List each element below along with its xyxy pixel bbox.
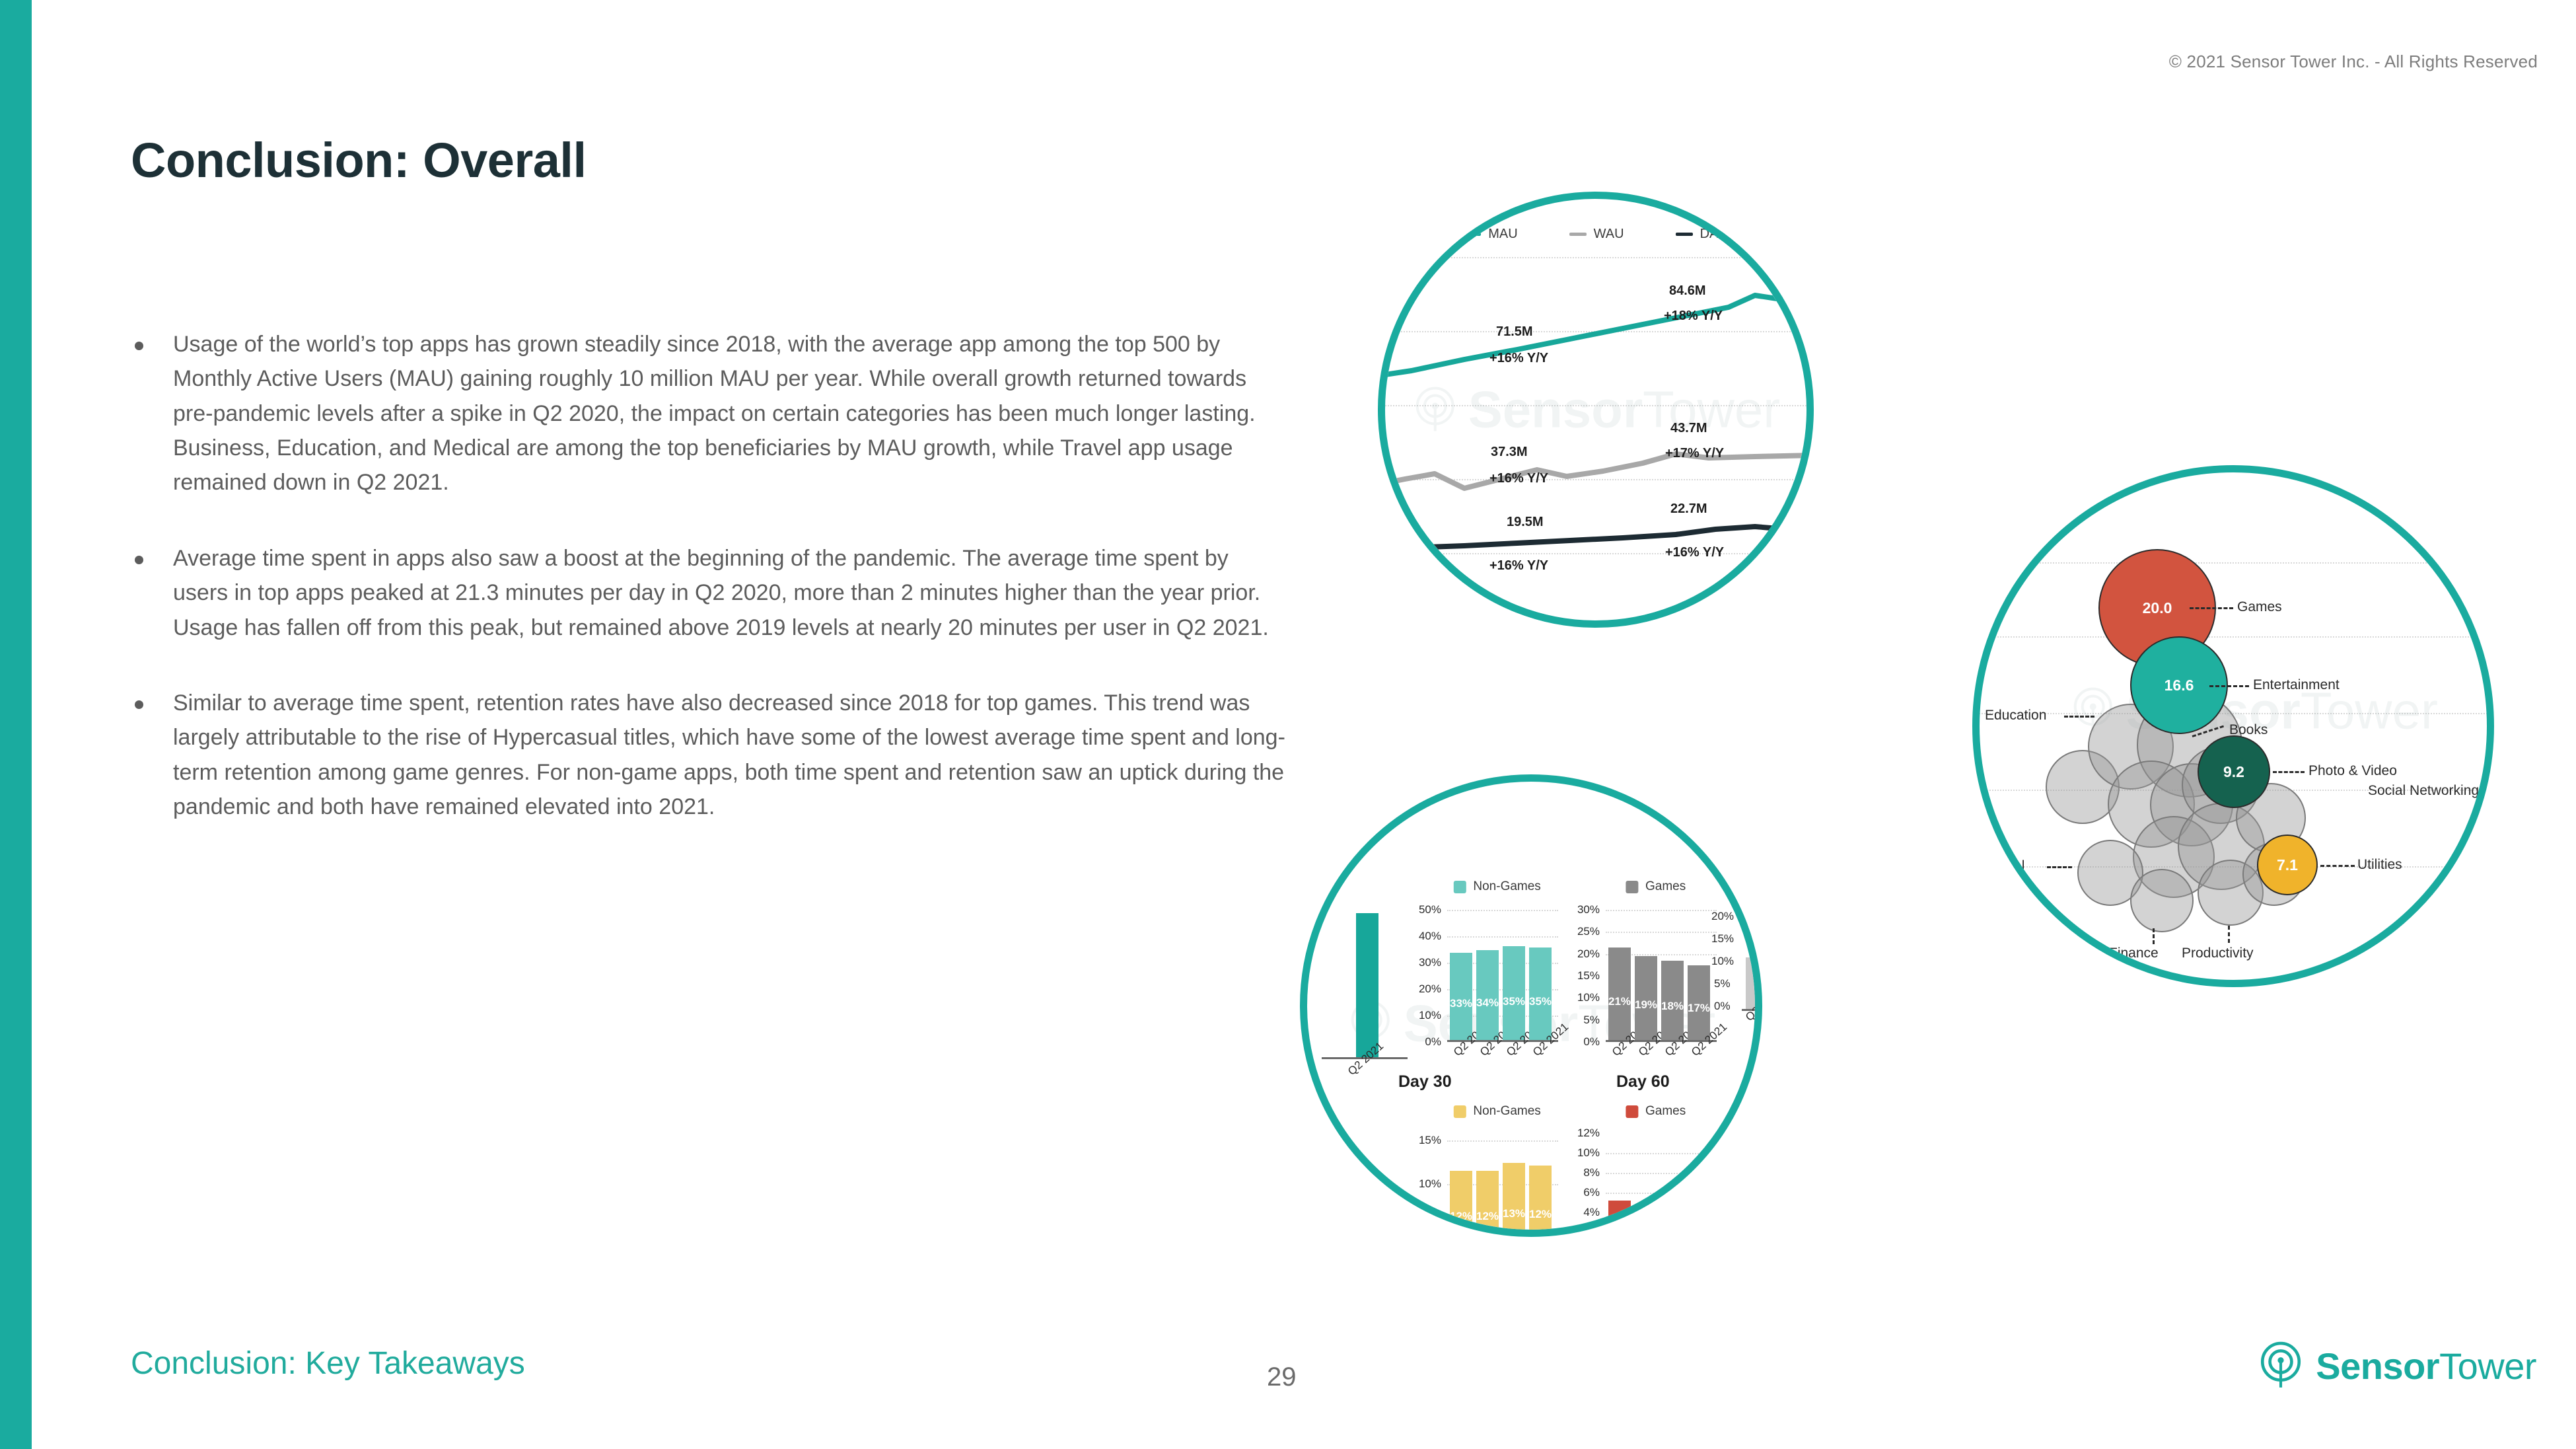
table-row: 35% Q2 2021 — [1529, 947, 1552, 1040]
bar-panel-legend: Non-Games — [1453, 879, 1540, 894]
bullet-text: Similar to average time spent, retention… — [173, 686, 1288, 824]
retention-charts: SensorTower Q2 2021 Non-Games 50% 40% 30… — [1300, 774, 1762, 1237]
bar-panel-legend: Games — [1626, 1104, 1686, 1119]
table-row: 21% Q2 2018 — [1608, 947, 1631, 1040]
y-tick: 5% — [1583, 1014, 1600, 1027]
legend-label: Non-Games — [1473, 1104, 1540, 1119]
y-tick: 12% — [1717, 1133, 1739, 1146]
y-tick: 6% — [1583, 1186, 1600, 1199]
bar-value-label: 4% — [1688, 1228, 1710, 1237]
table-row: 5% — [1608, 1201, 1631, 1237]
y-tick: 10% — [1419, 1177, 1441, 1191]
bubble-label-medical: Medical — [1977, 858, 2024, 874]
y-tick: 50% — [1419, 903, 1441, 916]
legend-label: Games — [1645, 1104, 1686, 1119]
bar-value-label: 34% — [1476, 996, 1499, 1010]
y-tick: 25% — [1577, 925, 1600, 938]
bar-panel-legend: Games — [1626, 879, 1686, 894]
wau-end-value: 43.7M — [1670, 421, 1707, 436]
table-row: 19% Q2 2019 — [1635, 956, 1657, 1040]
y-tick: 10% — [1419, 1009, 1441, 1022]
category-time-spent-chart: SensorTower 20.0 16.6 9.2 — [1972, 465, 2494, 987]
table-row: 12% — [1450, 1171, 1472, 1237]
bar-panel-day30-nongames-timespent: Non-Games 15% 10% 5% 12% 12% — [1413, 1104, 1558, 1237]
bullet-text: Average time spent in apps also saw a bo… — [173, 541, 1288, 645]
bubble-label-games: Games — [2237, 599, 2282, 615]
table-row: 4% — [1661, 1209, 1684, 1237]
y-tick: 10% — [1717, 1153, 1739, 1166]
mau-end-growth: +18% Y/Y — [1664, 309, 1723, 324]
line-series-paths — [1385, 199, 1814, 628]
bar-category-label: Q2 2021 — [1530, 1020, 1571, 1059]
y-tick: 12% — [1577, 1127, 1600, 1140]
table-row: 4% — [1635, 1208, 1657, 1237]
mau-end-value: 84.6M — [1669, 283, 1706, 299]
wau-start-growth: +16% Y/Y — [1489, 471, 1548, 486]
brand-logo: SensorTower — [2256, 1341, 2536, 1390]
bar-value-label: 17% — [1688, 1002, 1710, 1015]
bar-value-label: 5% — [1608, 1226, 1631, 1238]
list-item: Average time spent in apps also saw a bo… — [125, 541, 1288, 645]
list-item: Similar to average time spent, retention… — [125, 686, 1288, 824]
brand-name-light: Tower — [2439, 1345, 2536, 1387]
table-row: 34% Q2 2019 — [1476, 950, 1499, 1040]
bubble-label-education: Education — [1985, 708, 2046, 724]
bar-value-label: 12% — [1450, 1210, 1472, 1223]
bar-value-label: 21% — [1608, 995, 1631, 1008]
bar-value-label: 13% — [1503, 1207, 1525, 1220]
day60-label-top: Day 60 — [1616, 1072, 1670, 1092]
table-row: 17% Q2 2021 — [1688, 965, 1710, 1040]
legend-label: Games — [1645, 879, 1686, 894]
active-users-trend-chart: SensorTower MAU WAU DAU — [1378, 192, 1814, 628]
wau-start-value: 37.3M — [1491, 445, 1528, 460]
bubble-label-finance: Finance — [2109, 946, 2159, 961]
table-row: 13% — [1503, 1163, 1525, 1237]
mau-start-value: 71.5M — [1496, 324, 1533, 340]
bar-value-label: 18% — [1661, 1000, 1684, 1013]
table-row: 35% Q2 2020 — [1503, 946, 1525, 1040]
table-row: 12% — [1529, 1166, 1552, 1237]
bar-value-label: 35% — [1529, 995, 1552, 1008]
clipped-bar-panel-right: 20% 15% 10% 5% 0% Q2 20… — [1711, 910, 1762, 1042]
bubble-photo-video: 9.2 — [2198, 735, 2270, 808]
bar-panel-legend: Non-Games — [1453, 1104, 1540, 1119]
dau-start-value: 19.5M — [1507, 515, 1544, 530]
bar-panel-day60-games: Games 30% 25% 20% 15% 10% 5% 0% 21% — [1571, 879, 1717, 1058]
y-tick: 0% — [1583, 1035, 1600, 1049]
wau-end-growth: +17% Y/Y — [1665, 446, 1724, 461]
bullet-dot-icon — [135, 342, 143, 350]
page-title: Conclusion: Overall — [131, 132, 587, 188]
legend-swatch-icon — [1626, 881, 1638, 893]
list-item: Usage of the world’s top apps has grown … — [125, 327, 1288, 500]
bar-value-label: 33% — [1450, 997, 1472, 1010]
table-row: 4% — [1688, 1210, 1710, 1237]
y-tick: 10% — [1577, 991, 1600, 1004]
bar-value-label: 35% — [1503, 995, 1525, 1008]
y-tick: 10% — [1577, 1146, 1600, 1160]
legend-swatch-icon — [1453, 1105, 1466, 1118]
line-chart-plot: SensorTower MAU WAU DAU — [1385, 199, 1807, 620]
table-row: 12% — [1476, 1171, 1499, 1237]
mau-start-growth: +16% Y/Y — [1489, 351, 1548, 366]
slide-canvas: © 2021 Sensor Tower Inc. - All Rights Re… — [0, 0, 2576, 1449]
y-tick: 8% — [1721, 1173, 1737, 1186]
bubble-finance — [2130, 869, 2194, 932]
bubble-label-social-networking: Social Networking — [2368, 783, 2479, 799]
copyright-notice: © 2021 Sensor Tower Inc. - All Rights Re… — [2169, 52, 2538, 72]
bubble-label-books: Books — [2229, 722, 2268, 738]
legend-swatch-icon — [1453, 881, 1466, 893]
dau-end-value: 22.7M — [1670, 502, 1707, 517]
y-tick: 0% — [1425, 1035, 1441, 1049]
sensor-tower-logo-icon — [2256, 1341, 2305, 1390]
bubble-label-utilities: Utilities — [2357, 857, 2402, 873]
y-tick: 4% — [1583, 1206, 1600, 1219]
y-tick: 5% — [1425, 1222, 1441, 1235]
bullet-list: Usage of the world’s top apps has grown … — [125, 327, 1288, 865]
legend-label: Non-Games — [1473, 879, 1540, 894]
bubble-value: 9.2 — [2223, 763, 2244, 781]
day30-label-top: Day 30 — [1398, 1072, 1452, 1092]
bubble-value: 16.6 — [2165, 677, 2194, 694]
bullet-dot-icon — [135, 556, 143, 564]
table-row — [1746, 957, 1762, 1009]
y-tick: 20% — [1419, 983, 1441, 996]
clipped-bar-panel-left: Q2 2021 — [1322, 911, 1408, 1059]
y-tick: 30% — [1419, 956, 1441, 969]
y-tick: 15% — [1419, 1134, 1441, 1147]
table-row — [1356, 913, 1378, 1057]
bubble-value: 20.0 — [2143, 599, 2172, 617]
table-row: 18% Q2 2020 — [1661, 961, 1684, 1040]
y-tick: 8% — [1583, 1166, 1600, 1179]
bubble-utilities: 7.1 — [2257, 835, 2318, 895]
bar-value-label: 12% — [1476, 1210, 1499, 1223]
legend-swatch-icon — [1626, 1105, 1638, 1118]
y-tick: 30% — [1577, 903, 1600, 916]
dau-end-growth: +16% Y/Y — [1665, 545, 1724, 560]
bar-value-label: 4% — [1635, 1228, 1657, 1237]
bubble-value: 7.1 — [2277, 856, 2298, 874]
table-row: 33% Q2 2018 — [1450, 953, 1472, 1040]
bar-panel-day30-nongames: Non-Games 50% 40% 30% 20% 10% 0% — [1413, 879, 1558, 1058]
brand-name-bold: Sensor — [2316, 1345, 2439, 1387]
y-tick: 2% — [1583, 1226, 1600, 1237]
bar-value-label: 19% — [1635, 998, 1657, 1012]
y-tick: 40% — [1419, 930, 1441, 943]
y-tick: 20% — [1577, 947, 1600, 961]
bar-value-label: 12% — [1529, 1208, 1552, 1221]
bubble-label-photo-video: Photo & Video — [2308, 763, 2397, 779]
dau-start-growth: +16% Y/Y — [1489, 558, 1548, 574]
footer-navigation-link[interactable]: Conclusion: Key Takeaways — [131, 1345, 525, 1382]
bubble-label-productivity: Productivity — [2182, 946, 2254, 961]
clipped-axis-right-row2: 12% 10% 8% — [1717, 1133, 1762, 1237]
left-accent-bar — [0, 0, 32, 1449]
bullet-text: Usage of the world’s top apps has grown … — [173, 327, 1288, 500]
bar-panel-day60-games-timespent: Games 12% 10% 8% 6% 4% 2% 0% 5% — [1571, 1104, 1717, 1237]
bullet-dot-icon — [135, 700, 143, 709]
bar-value-label: 4% — [1661, 1228, 1684, 1237]
y-tick: 15% — [1577, 969, 1600, 983]
bubble-label-entertainment: Entertainment — [2253, 677, 2340, 693]
page-number: 29 — [1267, 1362, 1297, 1392]
